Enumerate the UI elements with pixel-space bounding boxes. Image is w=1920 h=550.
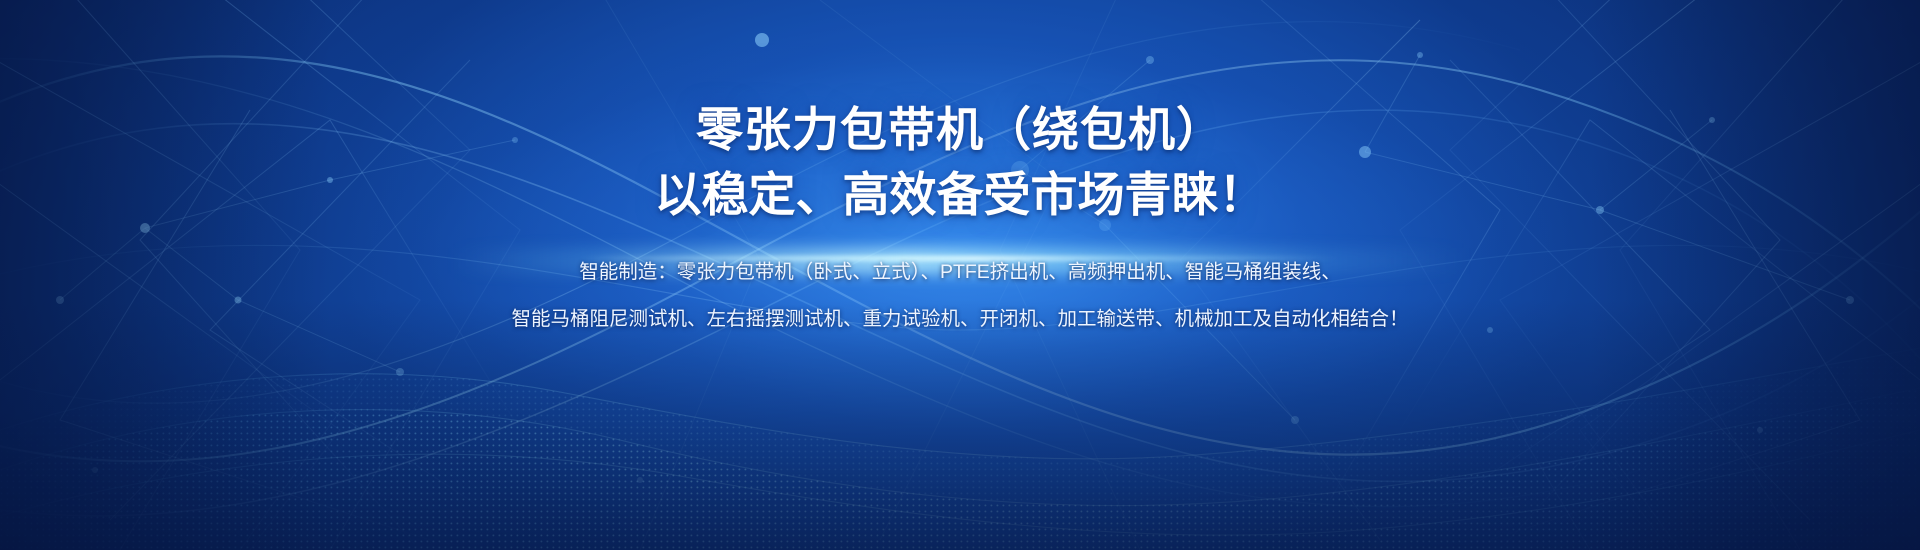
headline-line-1: 零张力包带机（绕包机） bbox=[696, 100, 1224, 160]
subtitle-line-1: 智能制造：零张力包带机（卧式、立式）、PTFE挤出机、高频押出机、智能马桶组装线… bbox=[579, 257, 1341, 287]
promo-banner: 零张力包带机（绕包机） 以稳定、高效备受市场青睐！ 智能制造：零张力包带机（卧式… bbox=[0, 0, 1920, 550]
banner-content: 零张力包带机（绕包机） 以稳定、高效备受市场青睐！ 智能制造：零张力包带机（卧式… bbox=[0, 0, 1920, 550]
subtitle-line-2: 智能马桶阻尼测试机、左右摇摆测试机、重力试验机、开闭机、加工输送带、机械加工及自… bbox=[511, 304, 1408, 334]
headline-line-2: 以稳定、高效备受市场青睐！ bbox=[655, 165, 1266, 225]
